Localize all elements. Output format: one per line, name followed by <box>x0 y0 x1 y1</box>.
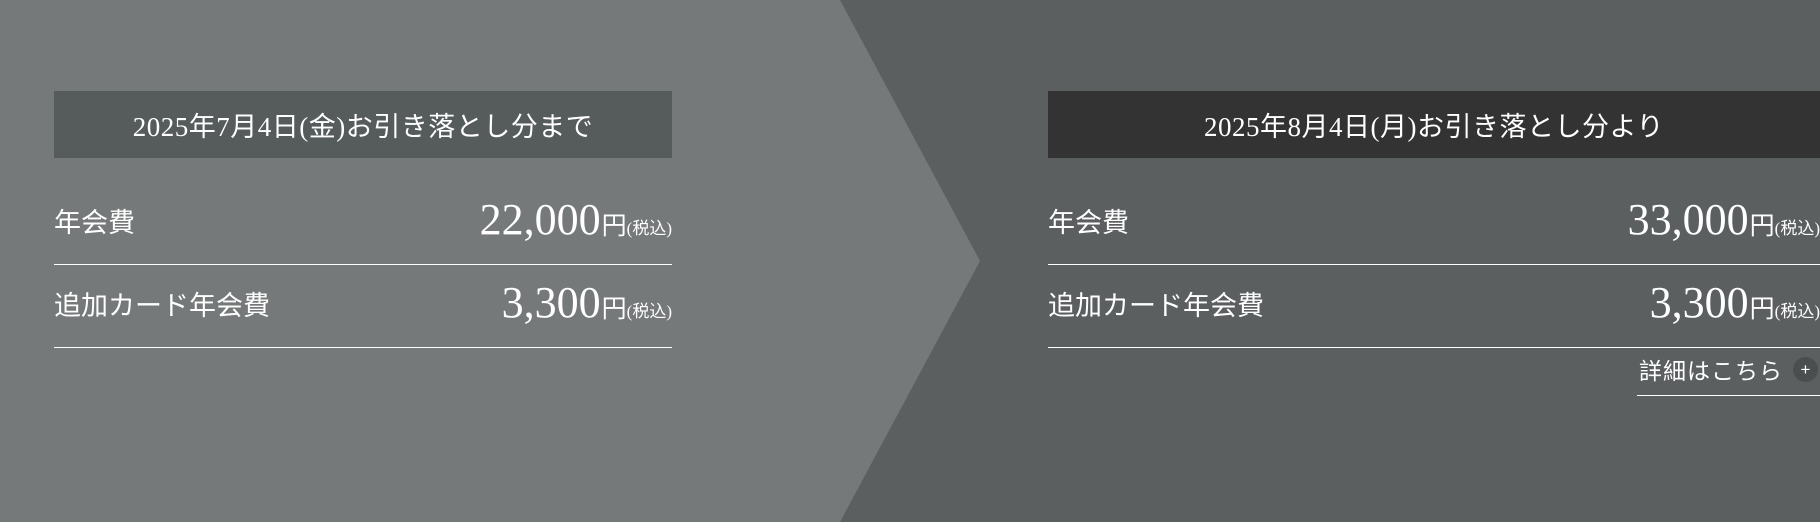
fee-amount-number: 33,000 <box>1628 198 1749 242</box>
fee-amount-unit: 円 <box>602 206 627 242</box>
date-header-after: 2025年8月4日(月)お引き落とし分より <box>1048 91 1820 158</box>
date-header-before: 2025年7月4日(金)お引き落とし分まで <box>54 91 672 158</box>
fee-label: 年会費 <box>54 201 135 246</box>
fee-amount-tax-note: (税込) <box>627 214 672 239</box>
table-row: 年会費 33,000 円 (税込) <box>1048 182 1820 265</box>
fee-amount-tax-note: (税込) <box>1775 297 1820 322</box>
date-header-before-text: 2025年7月4日(金)お引き落とし分まで <box>133 105 593 144</box>
fee-amount-unit: 円 <box>1750 206 1775 242</box>
fee-amount-unit: 円 <box>1750 289 1775 325</box>
table-row: 年会費 22,000 円 (税込) <box>54 182 672 265</box>
detail-link-label: 詳細はこちら <box>1639 352 1783 386</box>
fee-label: 追加カード年会費 <box>1048 284 1264 329</box>
fee-list-before: 年会費 22,000 円 (税込) 追加カード年会費 3,300 円 (税込) <box>54 182 672 348</box>
fee-amount-number: 22,000 <box>480 198 601 242</box>
fee-comparison-banner: 2025年7月4日(金)お引き落とし分まで 年会費 22,000 円 (税込) … <box>0 0 1820 522</box>
fee-amount: 3,300 円 (税込) <box>1650 281 1820 331</box>
fee-amount-unit: 円 <box>602 289 627 325</box>
table-row: 追加カード年会費 3,300 円 (税込) <box>54 265 672 348</box>
table-row: 追加カード年会費 3,300 円 (税込) <box>1048 265 1820 348</box>
fee-label: 年会費 <box>1048 201 1129 246</box>
fee-amount-tax-note: (税込) <box>1775 214 1820 239</box>
panel-after: 2025年8月4日(月)お引き落とし分より 年会費 33,000 円 (税込) … <box>1048 0 1820 522</box>
fee-amount-tax-note: (税込) <box>627 297 672 322</box>
detail-link[interactable]: 詳細はこちら + <box>1637 352 1820 396</box>
fee-amount: 33,000 円 (税込) <box>1628 198 1820 248</box>
fee-list-after: 年会費 33,000 円 (税込) 追加カード年会費 3,300 円 (税込) <box>1048 182 1820 348</box>
plus-icon: + <box>1793 357 1818 382</box>
fee-amount-number: 3,300 <box>502 281 601 325</box>
fee-amount: 3,300 円 (税込) <box>502 281 672 331</box>
fee-amount: 22,000 円 (税込) <box>480 198 672 248</box>
panel-before: 2025年7月4日(金)お引き落とし分まで 年会費 22,000 円 (税込) … <box>0 0 790 522</box>
fee-amount-number: 3,300 <box>1650 281 1749 325</box>
fee-label: 追加カード年会費 <box>54 284 270 329</box>
date-header-after-text: 2025年8月4日(月)お引き落とし分より <box>1204 105 1664 144</box>
